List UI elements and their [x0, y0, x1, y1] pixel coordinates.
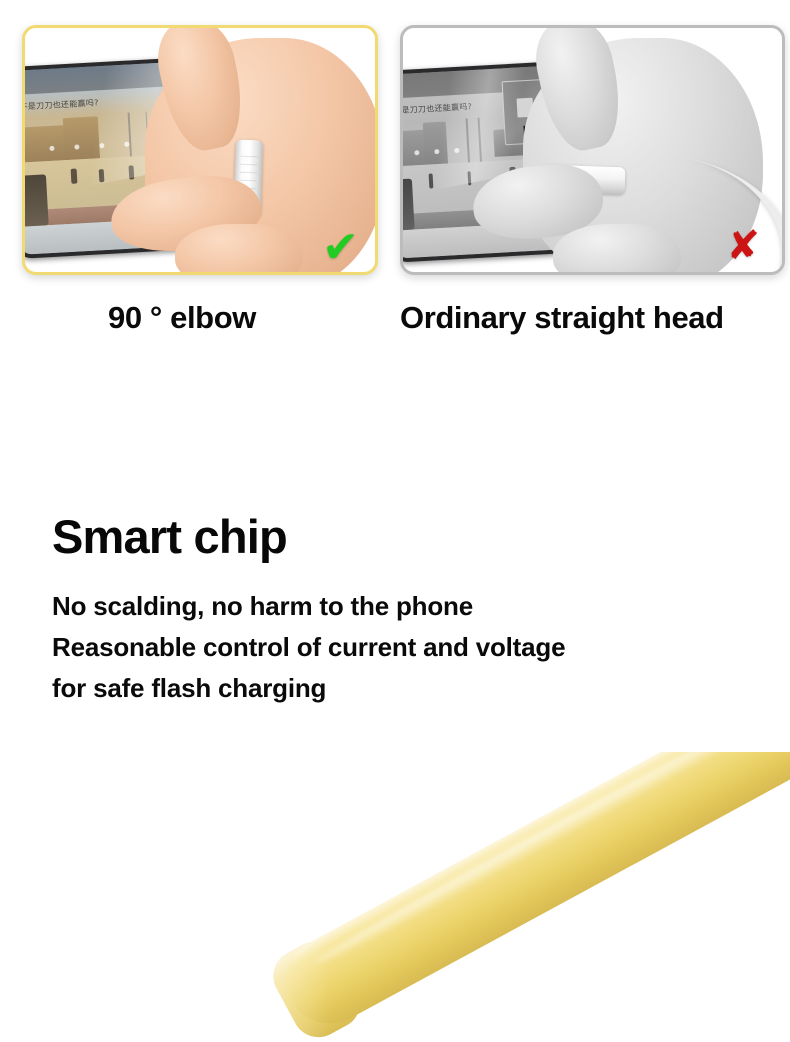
good-product-photo: 不是刀刀也还能赢吗? 临危 — [25, 28, 375, 272]
game-pole — [478, 118, 482, 166]
cable-highlight — [311, 752, 790, 971]
comparison-captions: 90 ° elbow Ordinary straight head — [0, 300, 790, 350]
comparison-card-bad: 不是刀刀也还能赢吗? 临危 ✘ — [400, 25, 785, 275]
cable-body — [271, 752, 790, 1039]
game-chat-text: 不是刀刀也还能赢吗? — [403, 101, 473, 116]
game-pole — [466, 118, 470, 166]
hand-knuckles — [553, 224, 681, 272]
game-building — [25, 125, 68, 162]
comparison-row: 不是刀刀也还能赢吗? 临危 — [0, 0, 790, 290]
comparison-card-good: 不是刀刀也还能赢吗? 临危 — [22, 25, 378, 275]
bad-product-photo: 不是刀刀也还能赢吗? 临危 ✘ — [403, 28, 782, 272]
feature-block: Smart chip No scalding, no harm to the p… — [52, 512, 752, 709]
game-character — [25, 174, 49, 227]
caption-bad: Ordinary straight head — [400, 300, 724, 336]
red-cross-icon: ✘ — [726, 226, 760, 266]
green-check-icon: ✔ — [322, 226, 359, 270]
hud-indicator-dot — [99, 143, 104, 148]
feature-title: Smart chip — [52, 512, 752, 562]
game-character — [128, 166, 134, 180]
game-chat-text: 不是刀刀也还能赢吗? — [25, 97, 99, 112]
game-building — [422, 121, 448, 165]
cable-closeup-photo — [0, 752, 790, 1042]
game-pole — [128, 112, 132, 160]
game-character — [429, 174, 434, 189]
game-building — [63, 116, 100, 160]
feature-line-1: No scalding, no harm to the phone — [52, 586, 752, 627]
hud-indicator-dot — [454, 148, 459, 153]
game-character — [71, 169, 78, 184]
caption-good: 90 ° elbow — [108, 300, 256, 336]
feature-line-2: Reasonable control of current and voltag… — [52, 627, 752, 668]
hand-knuckles — [175, 224, 303, 272]
feature-line-3: for safe flash charging — [52, 668, 752, 709]
game-character — [98, 169, 104, 182]
